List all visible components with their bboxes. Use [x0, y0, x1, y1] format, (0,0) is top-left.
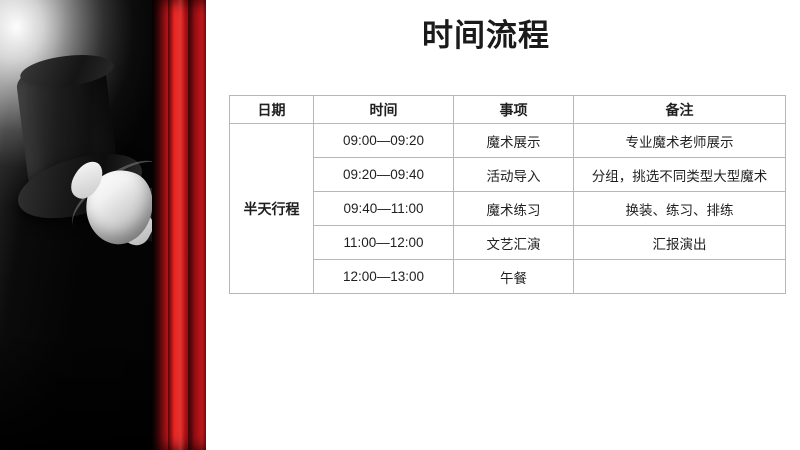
table-row: 12:00—13:00 午餐	[230, 260, 786, 294]
cell-note: 分组，挑选不同类型大型魔术	[574, 158, 786, 192]
cell-time: 09:00—09:20	[314, 124, 454, 158]
table-header: 日期 时间 事项 备注	[230, 96, 786, 124]
column-header-time: 时间	[314, 96, 454, 124]
day-label-cell: 半天行程	[230, 124, 314, 294]
cell-note: 专业魔术老师展示	[574, 124, 786, 158]
table-row: 半天行程 09:00—09:20 魔术展示 专业魔术老师展示	[230, 124, 786, 158]
cell-time: 12:00—13:00	[314, 260, 454, 294]
curtain-fold	[188, 0, 194, 450]
cell-note: 换装、练习、排练	[574, 192, 786, 226]
cell-item: 魔术练习	[454, 192, 574, 226]
red-curtain	[152, 0, 206, 450]
cell-time: 11:00—12:00	[314, 226, 454, 260]
schedule-table: 日期 时间 事项 备注 半天行程 09:00—09:20 魔术展示 专业魔术老师…	[229, 95, 786, 294]
cell-time: 09:40—11:00	[314, 192, 454, 226]
cell-item: 文艺汇演	[454, 226, 574, 260]
table-row: 09:40—11:00 魔术练习 换装、练习、排练	[230, 192, 786, 226]
cell-note: 汇报演出	[574, 226, 786, 260]
column-header-date: 日期	[230, 96, 314, 124]
table-body: 半天行程 09:00—09:20 魔术展示 专业魔术老师展示 09:20—09:…	[230, 124, 786, 294]
column-header-note: 备注	[574, 96, 786, 124]
curtain-highlight	[176, 0, 185, 450]
cell-item: 活动导入	[454, 158, 574, 192]
table-row: 11:00—12:00 文艺汇演 汇报演出	[230, 226, 786, 260]
page-title: 时间流程	[206, 16, 766, 56]
magician-image-panel	[0, 0, 206, 450]
table-row: 09:20—09:40 活动导入 分组，挑选不同类型大型魔术	[230, 158, 786, 192]
curtain-fold	[168, 0, 174, 450]
cell-time: 09:20—09:40	[314, 158, 454, 192]
cell-note	[574, 260, 786, 294]
cell-item: 午餐	[454, 260, 574, 294]
cell-item: 魔术展示	[454, 124, 574, 158]
slide-content: 时间流程 日期 时间 事项 备注 半天行程 09:00—09:20 魔术展示 专…	[206, 0, 800, 450]
stage-floor-shadow	[0, 330, 160, 450]
table-header-row: 日期 时间 事项 备注	[230, 96, 786, 124]
column-header-item: 事项	[454, 96, 574, 124]
